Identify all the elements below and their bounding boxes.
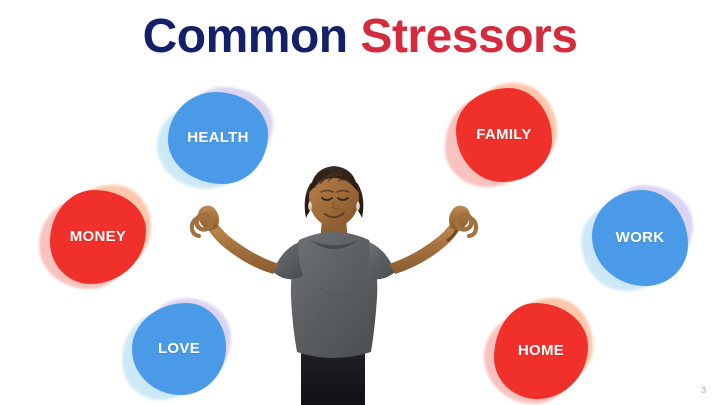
blob-label-work: WORK (592, 229, 688, 246)
title-word-common: Common (143, 10, 348, 63)
page-title: Common Stressors (0, 12, 720, 62)
blob-label-family: FAMILY (456, 126, 552, 143)
title-word-stressors: Stressors (360, 10, 577, 63)
blob-label-health: HEALTH (168, 129, 268, 146)
blob-label-money: MONEY (50, 228, 146, 245)
blob-label-love: LOVE (132, 340, 226, 357)
blob-label-home: HOME (494, 342, 588, 359)
slide-canvas: Common Stressors (0, 0, 720, 405)
page-number: 3 (702, 386, 706, 395)
